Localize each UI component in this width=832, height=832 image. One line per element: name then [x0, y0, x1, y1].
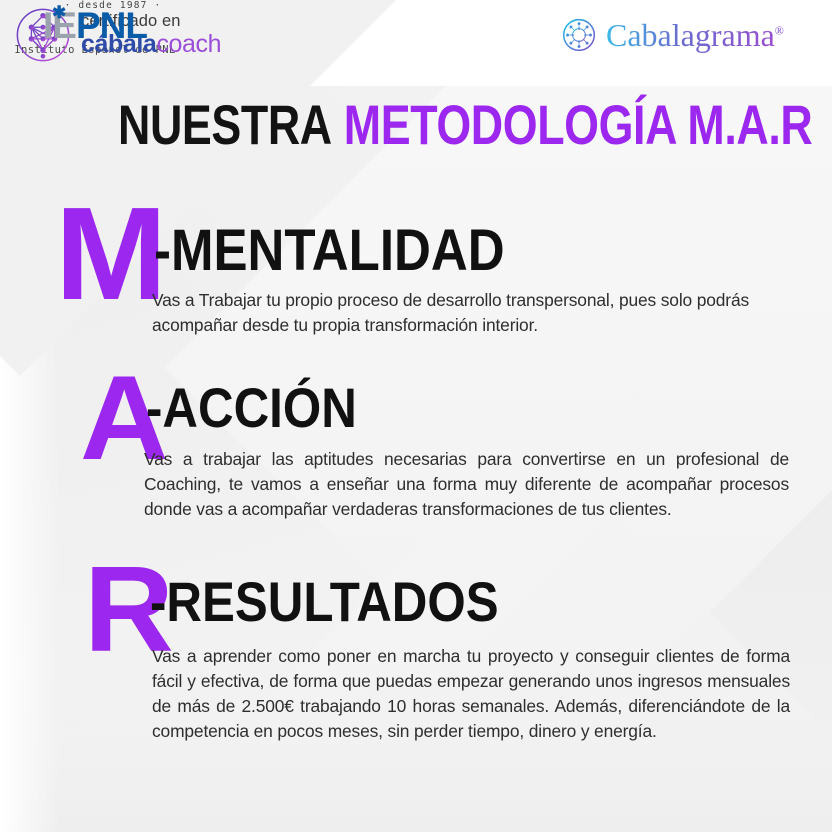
page-title-black: NUESTRA: [118, 93, 344, 156]
logo-cabalagrama-word: Cabalagrama: [606, 17, 775, 53]
section-body-resultados: Vas a aprender como poner en marcha tu p…: [152, 644, 790, 744]
section-body-accion: Vas a trabajar las aptitudes necesarias …: [144, 447, 789, 522]
logo-iepnl-wordmark: IEPNL✱: [0, 8, 190, 43]
logo-strip: certificado en cábalacoach · desde 1987 …: [0, 0, 832, 86]
section-heading-resultados: -RESULTADOS: [150, 574, 499, 630]
star-icon: ✱: [52, 4, 65, 21]
section-body-mentalidad: Vas a Trabajar tu propio proceso de desa…: [152, 288, 798, 338]
page-title: NUESTRA METODOLOGÍA M.A.R: [118, 96, 812, 155]
mandala-circle-icon: [562, 18, 596, 52]
bg-left-fade: [0, 0, 60, 832]
registered-icon: ®: [775, 23, 784, 37]
section-letter-m: M: [55, 188, 167, 320]
section-heading-accion: -ACCIÓN: [146, 380, 357, 436]
section-heading-mentalidad: -MENTALIDAD: [154, 222, 505, 280]
logo-cabalagrama: Cabalagrama®: [562, 18, 784, 52]
slide-canvas: certificado en cábalacoach · desde 1987 …: [0, 0, 832, 832]
logo-cabalagrama-wordmark: Cabalagrama®: [606, 19, 784, 51]
logo-iepnl-initials-blue: PNL: [76, 5, 147, 46]
page-title-purple: METODOLOGÍA M.A.R: [344, 93, 813, 156]
